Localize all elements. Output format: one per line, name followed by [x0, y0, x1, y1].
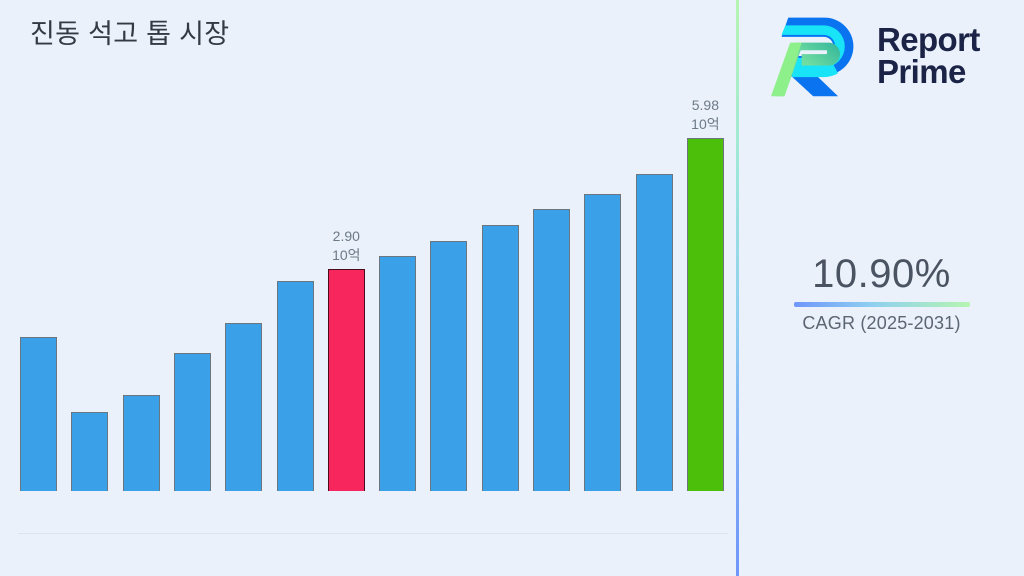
- bar-group-2022: 2022: [225, 323, 262, 491]
- bar-value-unit-2031: 10억: [691, 115, 719, 134]
- bar-group-2021: 2021: [174, 353, 211, 491]
- cagr-block: 10.90% CAGR (2025-2031): [739, 250, 1024, 334]
- bar-2025[interactable]: [379, 256, 416, 491]
- logo: Report Prime: [769, 10, 980, 102]
- bar-2031[interactable]: [687, 138, 724, 491]
- bar-group-2025: 2025: [379, 256, 416, 491]
- bar-group-2027: 2027: [482, 225, 519, 491]
- cagr-caption: CAGR (2025-2031): [739, 313, 1024, 334]
- logo-wordmark-line2: Prime: [877, 56, 980, 88]
- bar-value-unit-2024: 10억: [332, 246, 360, 265]
- bar-value-label-2024: 2.9010억: [332, 227, 360, 265]
- bar-2024[interactable]: [328, 269, 365, 491]
- brand-panel: Report Prime 10.90% CAGR (2025-2031): [739, 0, 1024, 576]
- bar-group-2018: 2018: [20, 337, 57, 491]
- bar-2029[interactable]: [584, 194, 621, 491]
- chart-page: 진동 석고 톱 시장 2018201920202021202220232.901…: [0, 0, 1024, 576]
- bar-value-number-2024: 2.90: [332, 227, 360, 246]
- bar-group-2024: 2.9010억2024: [328, 269, 365, 491]
- bar-2027[interactable]: [482, 225, 519, 491]
- bar-value-number-2031: 5.98: [691, 96, 719, 115]
- bar-2028[interactable]: [533, 209, 570, 491]
- plot-area: 2018201920202021202220232.9010억202420252…: [0, 0, 737, 534]
- bar-2018[interactable]: [20, 337, 57, 491]
- bar-group-2028: 2028: [533, 209, 570, 491]
- bar-group-2029: 2029: [584, 194, 621, 491]
- bar-group-2030: 2030: [636, 174, 673, 491]
- cagr-value: 10.90%: [739, 250, 1024, 298]
- bar-group-2031: 5.9810억2031: [687, 138, 724, 491]
- bar-2021[interactable]: [174, 353, 211, 491]
- bar-group-2026: 2026: [430, 241, 467, 491]
- logo-wordmark: Report Prime: [877, 24, 980, 89]
- bar-2026[interactable]: [430, 241, 467, 491]
- x-axis-line: [18, 533, 728, 534]
- chart-panel: 진동 석고 톱 시장 2018201920202021202220232.901…: [0, 0, 737, 576]
- bar-2030[interactable]: [636, 174, 673, 491]
- bar-2020[interactable]: [123, 395, 160, 491]
- bar-group-2023: 2023: [277, 281, 314, 491]
- bar-2019[interactable]: [71, 412, 108, 491]
- logo-wordmark-line1: Report: [877, 24, 980, 56]
- bar-2022[interactable]: [225, 323, 262, 491]
- bar-2023[interactable]: [277, 281, 314, 491]
- bar-group-2019: 2019: [71, 412, 108, 491]
- cagr-divider-rule: [794, 302, 970, 307]
- bar-value-label-2031: 5.9810억: [691, 96, 719, 134]
- bar-group-2020: 2020: [123, 395, 160, 491]
- report-prime-logo-mark-icon: [769, 10, 865, 102]
